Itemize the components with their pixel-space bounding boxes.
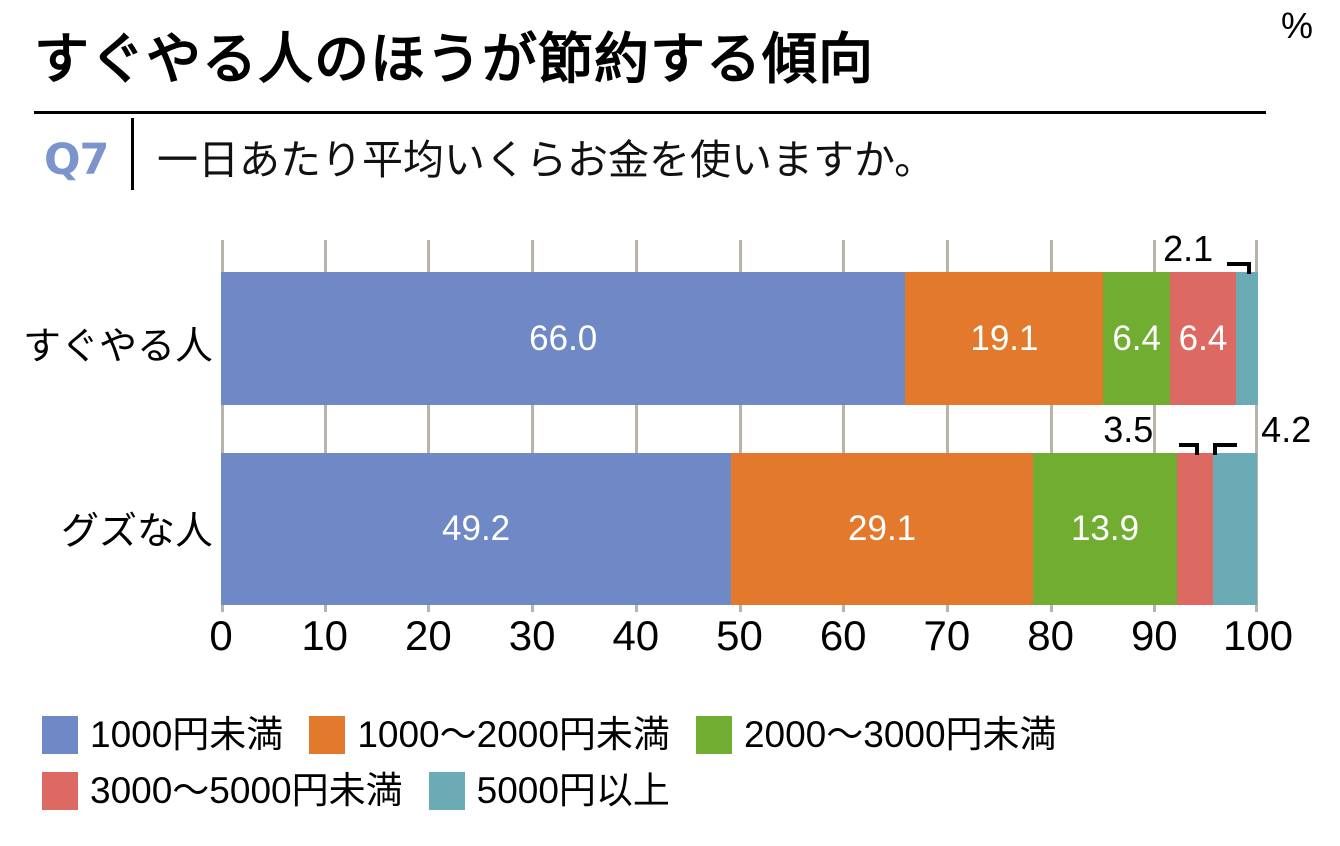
callout-label: 2.1 — [1163, 228, 1213, 270]
x-tick-label: 0 — [209, 612, 232, 660]
legend-swatch-icon — [42, 772, 78, 810]
bar-segment: 13.9 — [1033, 453, 1177, 605]
legend-item[interactable]: 1000～2000円未満 — [309, 714, 670, 756]
bar-segment: 2.1 — [1236, 272, 1258, 405]
title-divider-rule — [34, 111, 1266, 114]
bar-segment-value: 6.4 — [1112, 319, 1161, 359]
x-tick-label: 80 — [1027, 612, 1074, 660]
x-tick-label: 50 — [716, 612, 763, 660]
legend-row: 3000～5000円未満5000円以上 — [42, 769, 696, 813]
bar-row: 49.229.113.93.54.2 — [221, 453, 1258, 605]
bar-segment-value: 66.0 — [529, 319, 597, 359]
legend-swatch-icon — [309, 716, 345, 754]
legend-swatch-icon — [429, 772, 465, 810]
category-label: すぐやる人 — [23, 315, 213, 370]
callout-label: 3.5 — [1103, 409, 1153, 451]
bar-segment: 6.4 — [1170, 272, 1236, 405]
chart-page: すぐやる人のほうが節約する傾向 Q7 一日あたり平均いくらお金を使いますか。 6… — [0, 0, 1340, 846]
callout-leader-vertical — [1247, 262, 1251, 274]
legend-label: 3000～5000円未満 — [90, 770, 403, 812]
legend-label: 2000～3000円未満 — [744, 714, 1057, 756]
x-tick-label: 20 — [405, 612, 452, 660]
x-tick-label: 70 — [924, 612, 971, 660]
bar-segment: 19.1 — [905, 272, 1103, 405]
bar-segment: 29.1 — [731, 453, 1033, 605]
x-tick-label: 100 — [1223, 612, 1293, 660]
legend-swatch-icon — [42, 716, 78, 754]
bar-segment-value: 13.9 — [1071, 509, 1139, 549]
bar-segment-value: 6.4 — [1179, 319, 1228, 359]
x-tick-label: 40 — [612, 612, 659, 660]
bar-segment-value: 29.1 — [848, 509, 916, 549]
legend-item[interactable]: 2000～3000円未満 — [696, 714, 1057, 756]
bar-segment: 66.0 — [221, 272, 905, 405]
bar-segment: 3.5 — [1177, 453, 1213, 605]
x-axis-unit-label: % — [1281, 4, 1313, 48]
legend-label: 1000～2000円未満 — [357, 714, 670, 756]
bar-row: 66.019.16.46.42.1 — [221, 272, 1258, 405]
x-tick-label: 10 — [301, 612, 348, 660]
x-tick-label: 60 — [820, 612, 867, 660]
callout-leader-vertical — [1195, 443, 1199, 455]
question-text: 一日あたり平均いくらお金を使いますか。 — [157, 131, 935, 189]
chart-plot-area: 66.019.16.46.42.149.229.113.93.54.2 2.13… — [221, 240, 1258, 612]
legend-swatch-icon — [696, 716, 732, 754]
legend-item[interactable]: 5000円以上 — [429, 770, 670, 812]
question-number: Q7 — [44, 133, 124, 187]
chart-legend: 1000円未満1000～2000円未満2000～3000円未満 3000～500… — [42, 713, 1302, 823]
bar-segment-value: 19.1 — [970, 319, 1038, 359]
legend-label: 5000円以上 — [477, 770, 670, 812]
category-label: グズな人 — [61, 500, 213, 555]
x-axis-tick-labels: 0102030405060708090100 — [0, 612, 1340, 668]
page-title: すぐやる人のほうが節約する傾向 — [34, 20, 1274, 100]
legend-label: 1000円未満 — [90, 714, 283, 756]
bar-segment: 49.2 — [221, 453, 731, 605]
legend-item[interactable]: 3000～5000円未満 — [42, 770, 403, 812]
x-tick-label: 30 — [509, 612, 556, 660]
callout-label: 4.2 — [1261, 409, 1311, 451]
legend-row: 1000円未満1000～2000円未満2000～3000円未満 — [42, 713, 1083, 757]
bar-segment: 6.4 — [1103, 272, 1169, 405]
bar-segment-value: 49.2 — [442, 509, 510, 549]
x-tick-label: 90 — [1131, 612, 1178, 660]
bar-segment: 4.2 — [1213, 453, 1257, 605]
callout-leader-vertical — [1213, 443, 1217, 455]
legend-item[interactable]: 1000円未満 — [42, 714, 283, 756]
question-divider-line — [131, 118, 134, 190]
